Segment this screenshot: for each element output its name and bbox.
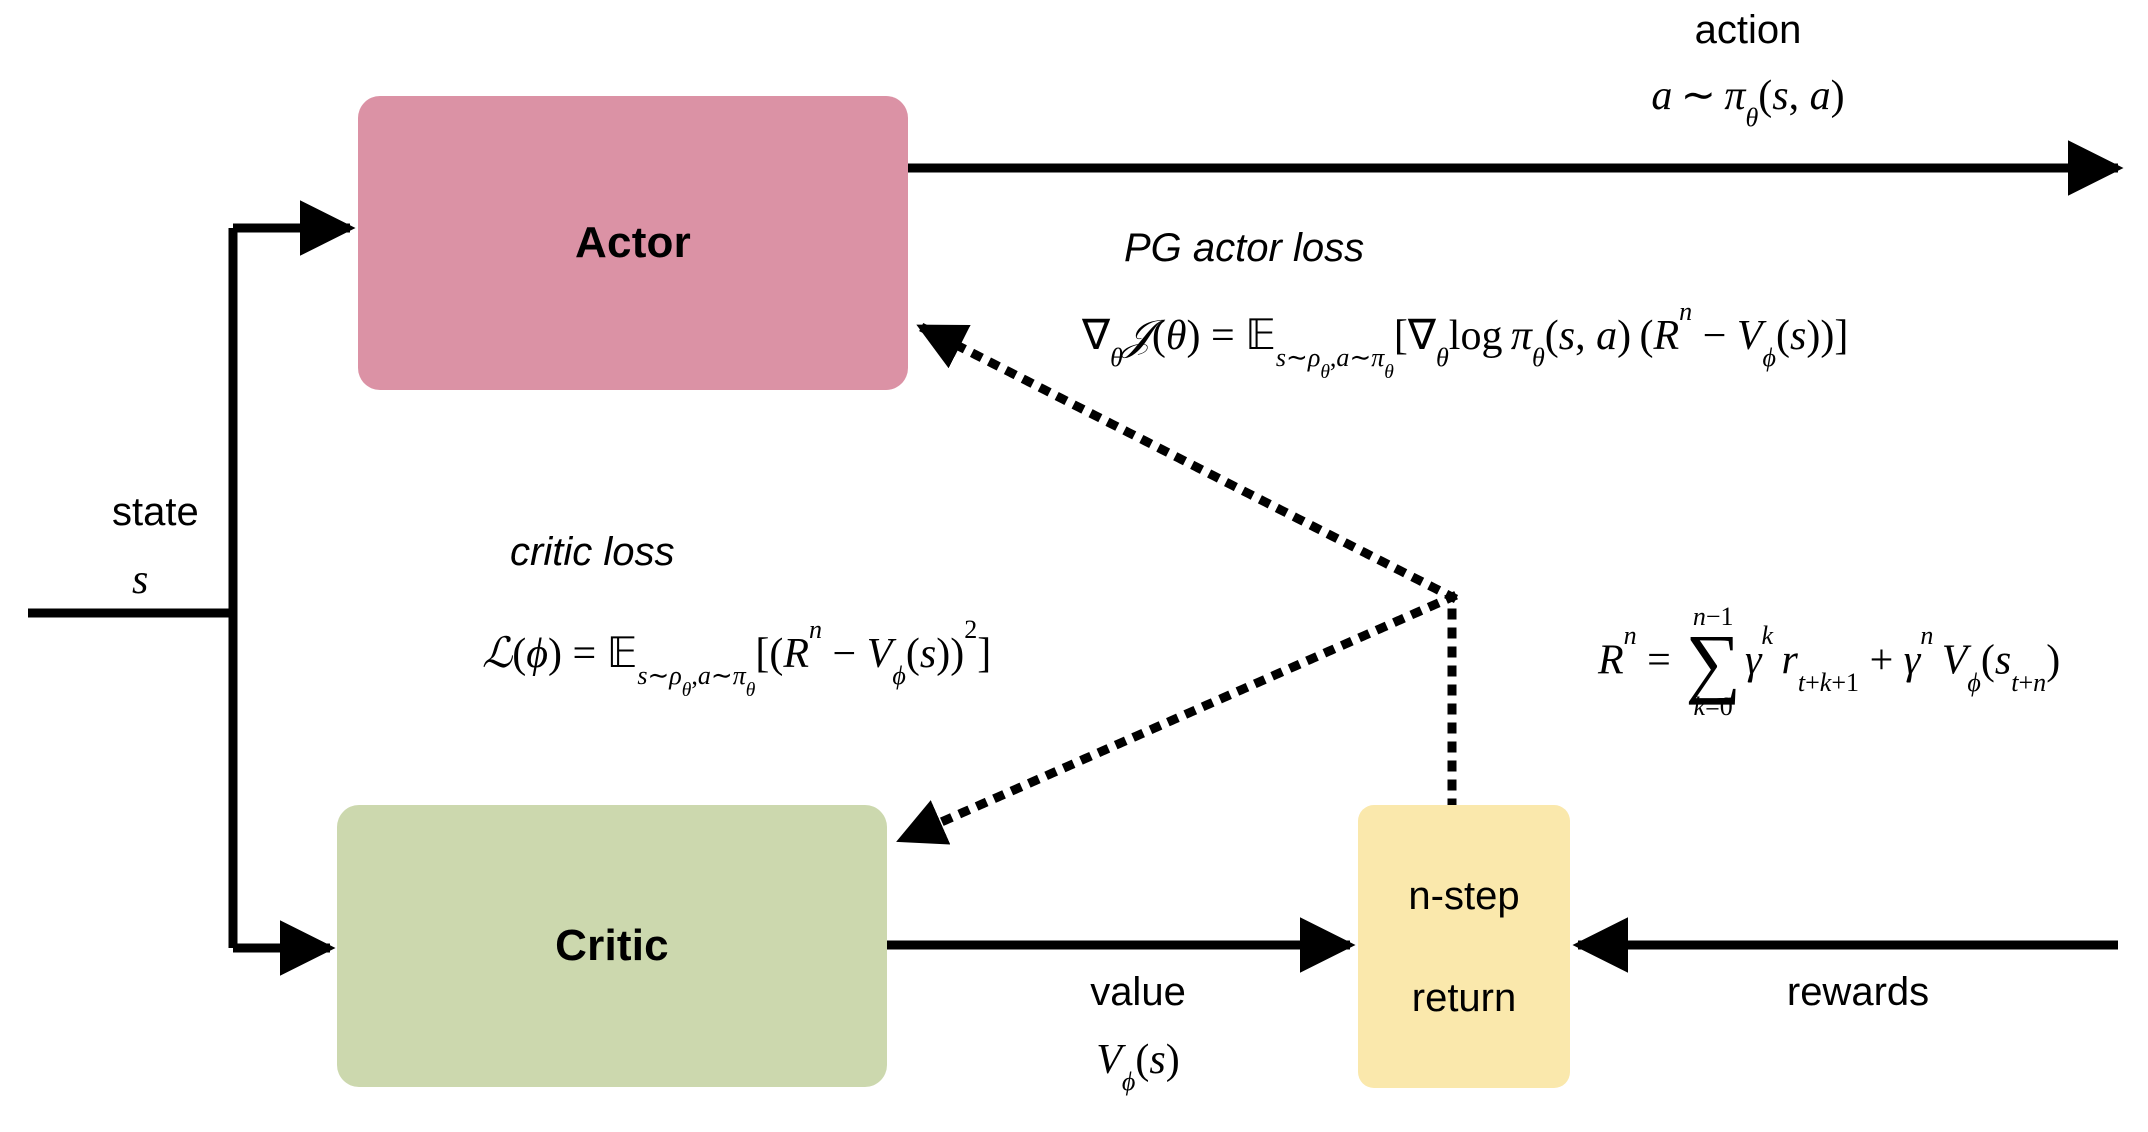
actor-node-label: Actor xyxy=(575,218,691,268)
critic-node-label: Critic xyxy=(555,921,669,971)
summation-symbol: n−1∑k=0 xyxy=(1685,604,1741,720)
value-label: value xyxy=(1090,970,1186,1015)
pg-actor-loss-label: PG actor loss xyxy=(1124,226,1364,271)
state-bus-wire xyxy=(28,228,233,948)
n-step-return-label-line1: n-step xyxy=(1408,876,1519,916)
critic-node[interactable]: Critic xyxy=(337,805,887,1087)
actor-node[interactable]: Actor xyxy=(358,96,908,390)
n-step-return-node[interactable]: n-step return xyxy=(1358,805,1570,1088)
critic-loss-equation: ℒ(ϕ) = 𝔼s∼ρθ,a∼πθ[(Rn − Vϕ(s))2] xyxy=(482,628,991,678)
diagram-canvas: Actor Critic n-step return action a ∼ πθ… xyxy=(0,0,2148,1132)
pg-actor-loss-equation: ∇θ𝒥(θ) = 𝔼s∼ρθ,a∼πθ[∇θlog πθ(s, a) (Rn −… xyxy=(1082,310,1848,360)
critic-loss-label: critic loss xyxy=(510,530,674,575)
connector-layer xyxy=(0,0,2148,1132)
state-label: state xyxy=(112,490,199,535)
action-label: action xyxy=(1695,8,1802,53)
state-symbol: s xyxy=(132,556,148,604)
rewards-label: rewards xyxy=(1787,970,1929,1015)
n-step-return-equation: Rn = n−1∑k=0γk rt+k+1 + γn Vϕ(st+n) xyxy=(1598,606,2060,722)
n-step-return-label-line2: return xyxy=(1412,978,1517,1018)
value-function-equation: Vϕ(s) xyxy=(1096,1036,1180,1084)
action-sampling-equation: a ∼ πθ(s, a) xyxy=(1651,70,1844,120)
